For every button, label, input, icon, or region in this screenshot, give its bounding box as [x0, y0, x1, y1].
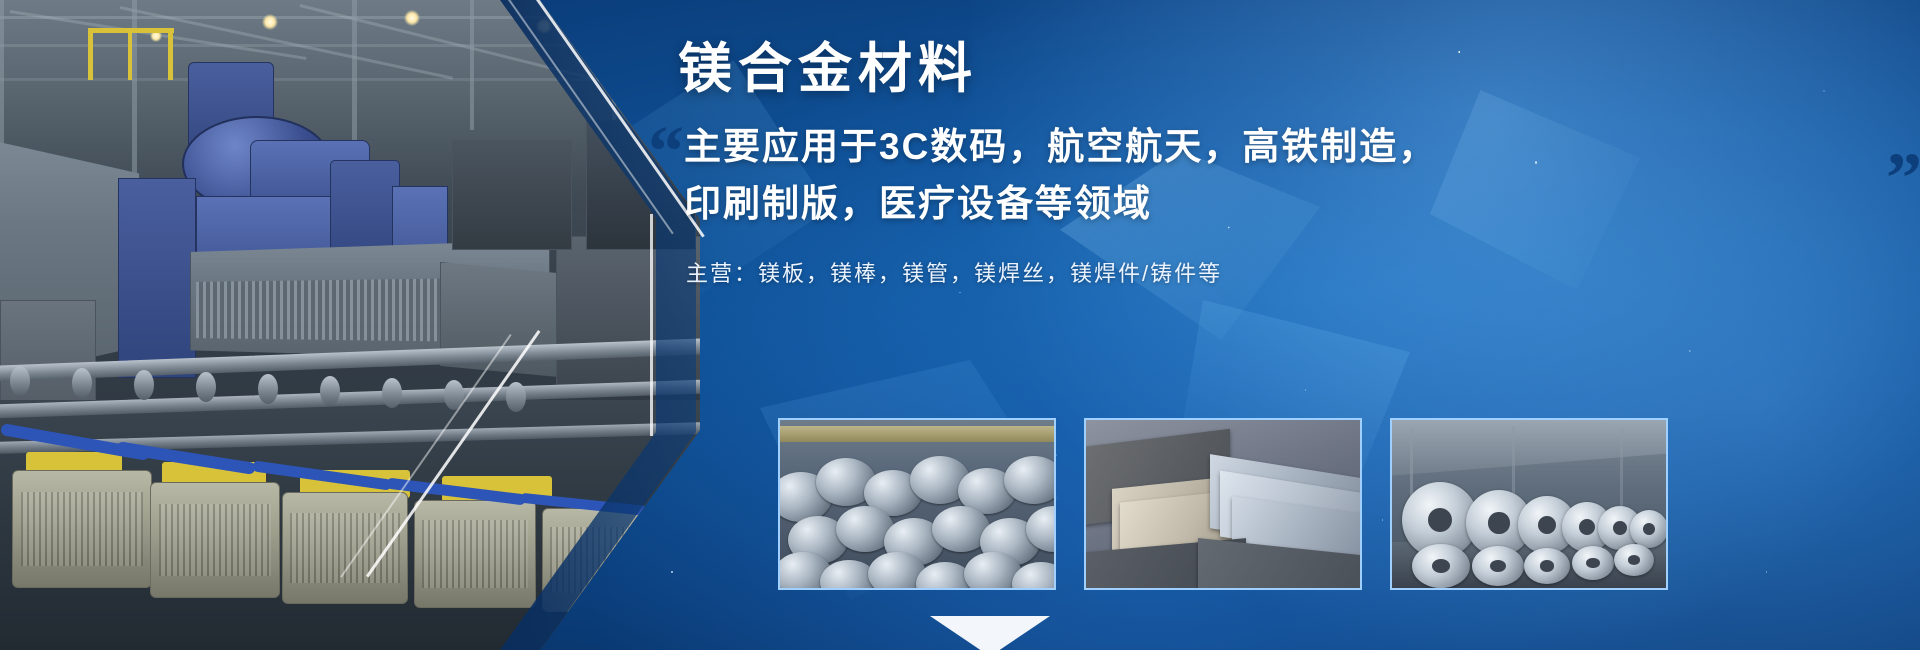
quote-close-icon: ”: [1886, 142, 1920, 214]
hero-banner: 镁合金材料 “ 主要应用于3C数码，航空航天，高铁制造， 印刷制版，医疗设备等领…: [0, 0, 1920, 650]
magnesium-coils-thumbnail[interactable]: [1390, 418, 1668, 590]
subtitle-line-2: 印刷制版，医疗设备等领域: [684, 183, 1152, 224]
product-tagline: 主营：镁板，镁棒，镁管，镁焊丝，镁焊件/铸件等: [678, 256, 1858, 288]
factory-production-line-photo: [0, 0, 700, 650]
magnesium-bars-thumbnail[interactable]: [778, 418, 1056, 590]
quote-block: “ 主要应用于3C数码，航空航天，高铁制造， 印刷制版，医疗设备等领域 ”: [678, 119, 1858, 231]
banner-content: 镁合金材料 “ 主要应用于3C数码，航空航天，高铁制造， 印刷制版，医疗设备等领…: [678, 40, 1858, 288]
thumbnail-strip: [778, 418, 1668, 590]
page-title: 镁合金材料: [678, 40, 1858, 99]
subtitle-line-1: 主要应用于3C数码，航空航天，高铁制造，: [678, 119, 1858, 175]
magnesium-plates-thumbnail[interactable]: [1084, 418, 1362, 590]
subtitle-line-2-wrap: 印刷制版，医疗设备等领域 ”: [678, 176, 1858, 232]
